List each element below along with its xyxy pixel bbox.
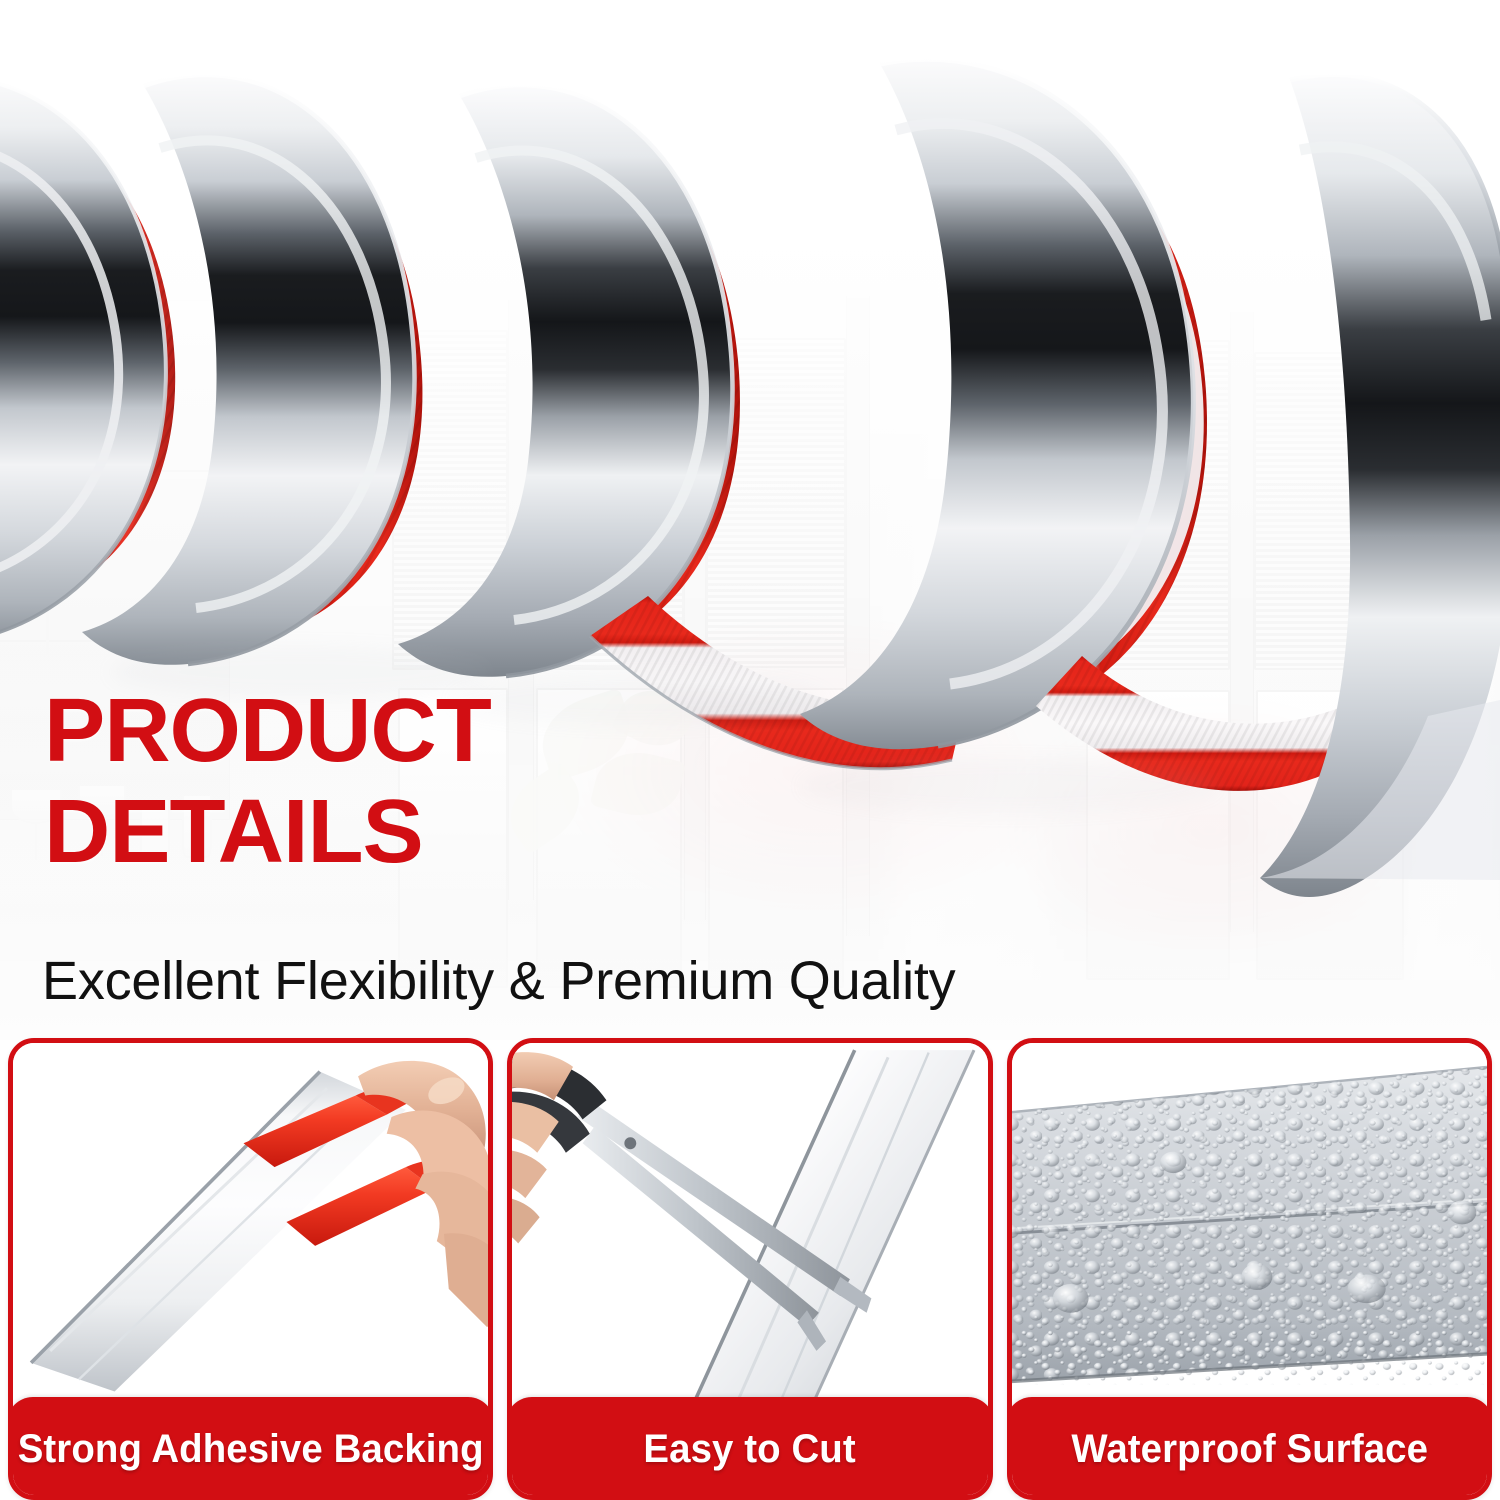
background-interior-scene bbox=[0, 0, 1500, 1040]
background-window-shutter bbox=[706, 338, 846, 668]
feature-panel-adhesive[interactable]: Strong Adhesive Backing bbox=[8, 1038, 493, 1500]
feature-panel-cut[interactable]: Easy to Cut bbox=[507, 1038, 992, 1500]
feature-caption-text: Strong Adhesive Backing bbox=[18, 1427, 484, 1472]
background-window-shutter bbox=[534, 318, 684, 670]
background-flower bbox=[44, 438, 96, 488]
background-window-shutter bbox=[1080, 340, 1230, 670]
feature-panel-waterproof[interactable]: Waterproof Surface bbox=[1007, 1038, 1492, 1500]
background-window-shutter bbox=[392, 330, 508, 670]
feature-image-cut bbox=[512, 1043, 987, 1401]
background-curtain bbox=[1400, 280, 1500, 980]
background-window-shutter bbox=[1254, 352, 1404, 670]
background-vase-stem bbox=[46, 535, 49, 655]
page-title: PRODUCT DETAILS bbox=[44, 688, 804, 877]
feature-caption-cut: Easy to Cut bbox=[507, 1397, 992, 1500]
feature-caption-text: Waterproof Surface bbox=[1071, 1427, 1428, 1472]
feature-image-adhesive bbox=[13, 1043, 488, 1401]
background-wine-glass-stem bbox=[35, 824, 37, 860]
background-shelf-line bbox=[0, 640, 230, 642]
background-flower bbox=[70, 482, 110, 522]
background-red-reflection bbox=[1000, 700, 1420, 960]
background-flower bbox=[22, 492, 68, 536]
feature-caption-waterproof: Waterproof Surface bbox=[1007, 1397, 1492, 1500]
feature-image-waterproof bbox=[1012, 1043, 1487, 1401]
feature-panel-row: Strong Adhesive Backing bbox=[0, 1038, 1500, 1500]
feature-caption-text: Easy to Cut bbox=[644, 1427, 856, 1472]
product-details-poster: PRODUCT DETAILS Excellent Flexibility & … bbox=[0, 0, 1500, 1500]
page-subtitle: Excellent Flexibility & Premium Quality bbox=[42, 950, 955, 1012]
title-line-1: PRODUCT bbox=[44, 688, 819, 775]
feature-caption-adhesive: Strong Adhesive Backing bbox=[8, 1397, 493, 1500]
title-line-2: DETAILS bbox=[44, 789, 819, 876]
